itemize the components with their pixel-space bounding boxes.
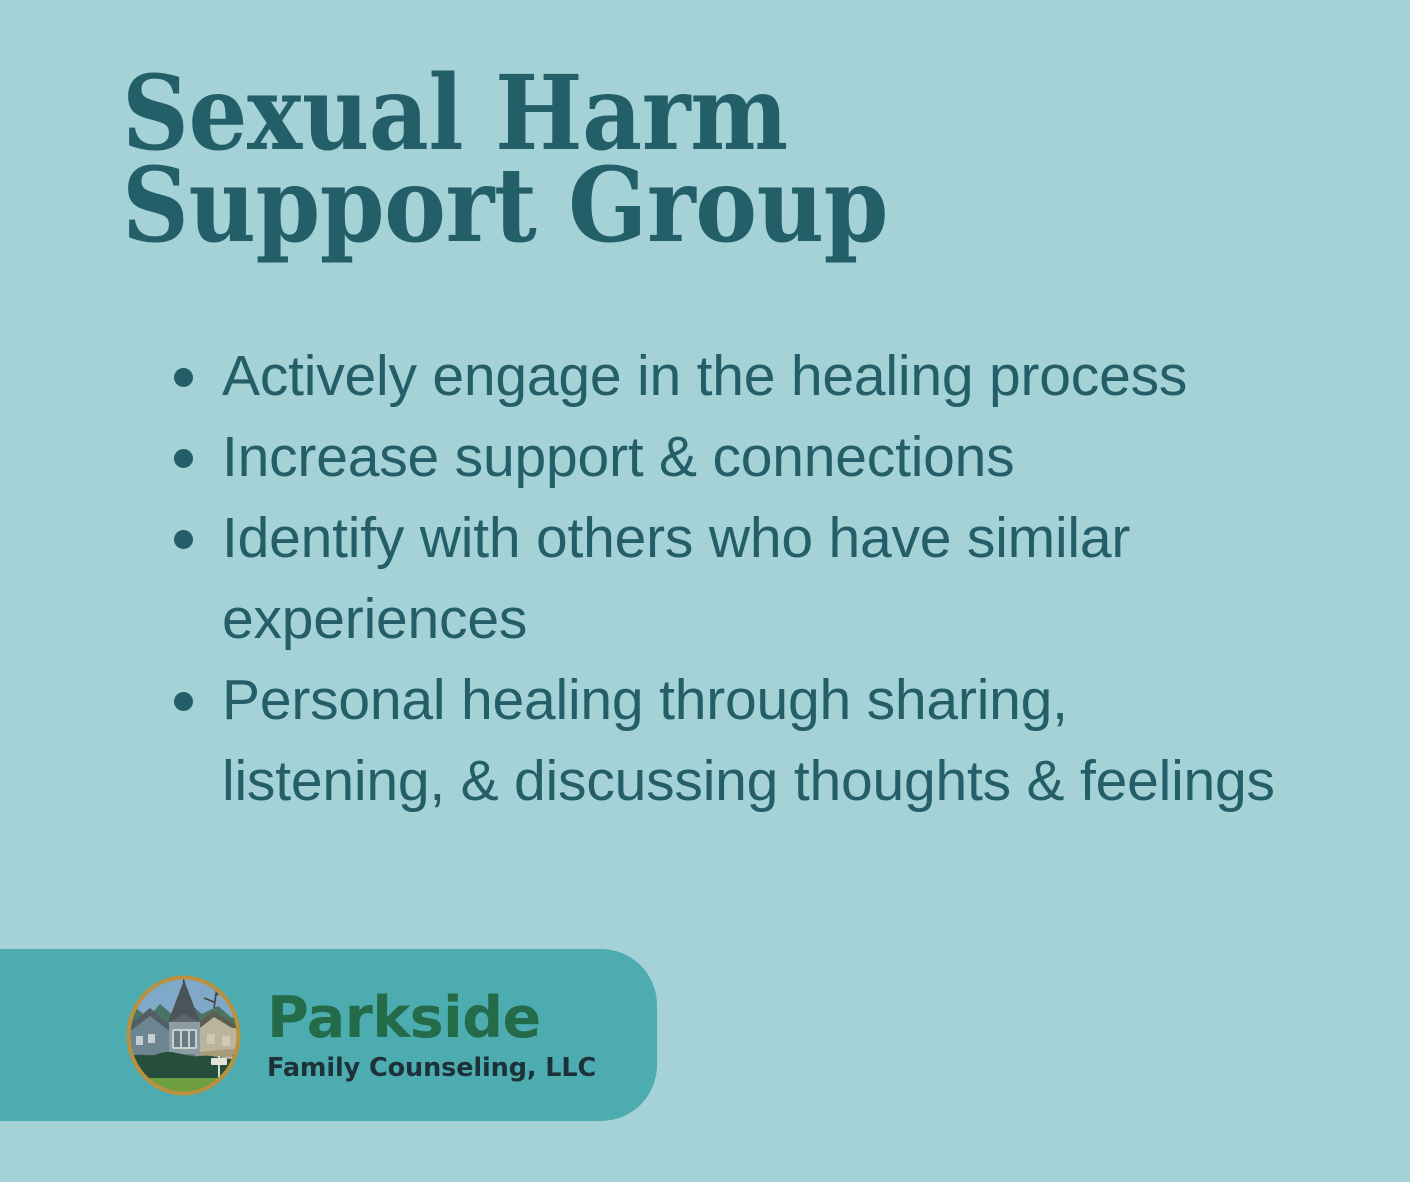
logo-tagline: Family Counseling, LLC — [267, 1055, 596, 1082]
logo-wordmark: Parkside Family Counseling, LLC — [267, 989, 596, 1082]
page-title-line-2: Support Group — [122, 160, 1157, 252]
list-item: Personal healing through sharing, listen… — [168, 660, 1278, 822]
bullet-dot-icon — [174, 449, 193, 468]
list-item-label: Personal healing through sharing, listen… — [222, 668, 1275, 813]
bullet-dot-icon — [174, 692, 193, 711]
bullet-dot-icon — [174, 368, 193, 387]
poster-canvas: Sexual Harm Support Group Actively engag… — [0, 0, 1410, 1182]
list-item-label: Actively engage in the healing process — [222, 344, 1187, 408]
list-item: Increase support & connections — [168, 417, 1278, 498]
benefits-list: Actively engage in the healing process I… — [168, 336, 1278, 822]
list-item: Actively engage in the healing process — [168, 336, 1278, 417]
list-item-label: Increase support & connections — [222, 425, 1014, 489]
list-item: Identify with others who have similar ex… — [168, 498, 1278, 660]
bullet-dot-icon — [174, 530, 193, 549]
victorian-house-photo-circle-icon — [122, 974, 245, 1097]
logo-badge: Parkside Family Counseling, LLC — [0, 949, 657, 1121]
logo-name: Parkside — [267, 989, 596, 1049]
page-title: Sexual Harm Support Group — [122, 68, 1272, 252]
list-item-label: Identify with others who have similar ex… — [222, 506, 1130, 651]
